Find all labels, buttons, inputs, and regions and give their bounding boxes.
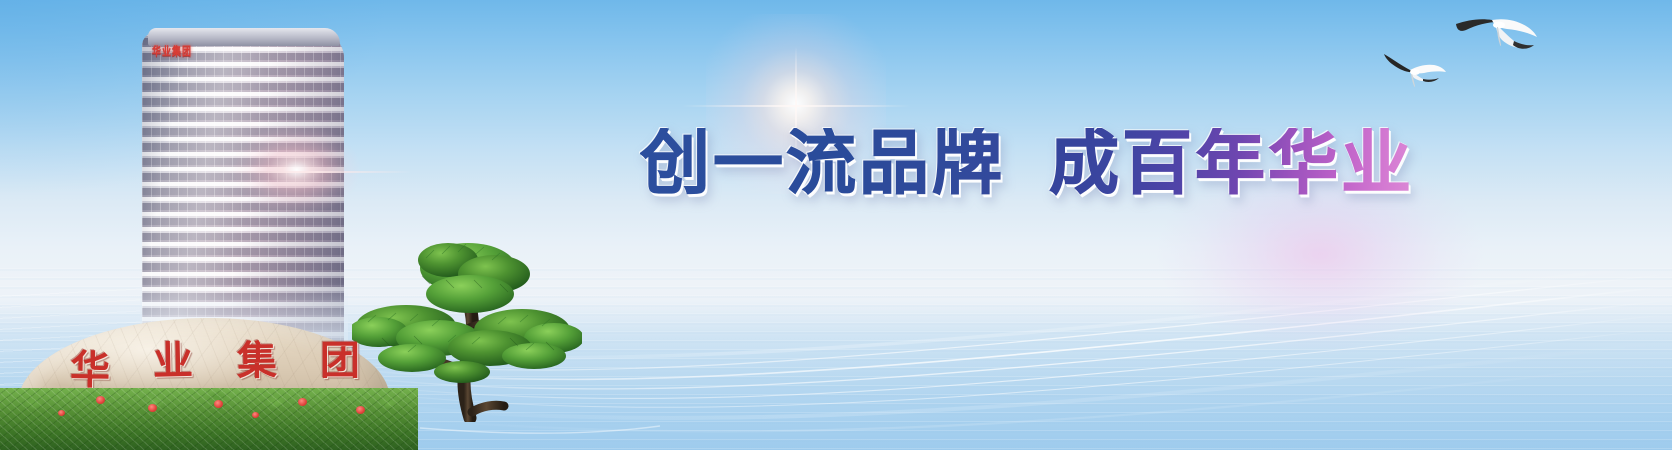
slogan-left-segment: 创一流品牌 — [640, 128, 1005, 198]
hedge-flower — [148, 404, 157, 412]
slogan-headline: 创一流品牌 成百年华业 — [640, 128, 1414, 198]
hedge-edge-blend — [380, 386, 440, 450]
hedge-flower — [252, 412, 259, 418]
hedge-flower — [58, 410, 65, 416]
hedge-flower — [356, 406, 365, 414]
hedge-row — [0, 388, 418, 450]
stone-char-1: 华 — [70, 351, 111, 392]
stone-char-2: 业 — [153, 341, 194, 382]
hedge-leaf-texture — [0, 388, 418, 450]
stone-char-4: 团 — [320, 341, 360, 381]
hedge-flower — [298, 398, 307, 406]
stone-char-3: 集 — [236, 341, 276, 381]
hedge-flower — [96, 396, 105, 404]
hedge-flower — [214, 400, 223, 408]
rooftop-sign-text: 华业集团 — [152, 42, 192, 58]
hero-banner: 创一流品牌 成百年华业 华业集团 — [0, 0, 1672, 450]
slogan-right-segment: 成百年华业 — [1049, 128, 1414, 198]
